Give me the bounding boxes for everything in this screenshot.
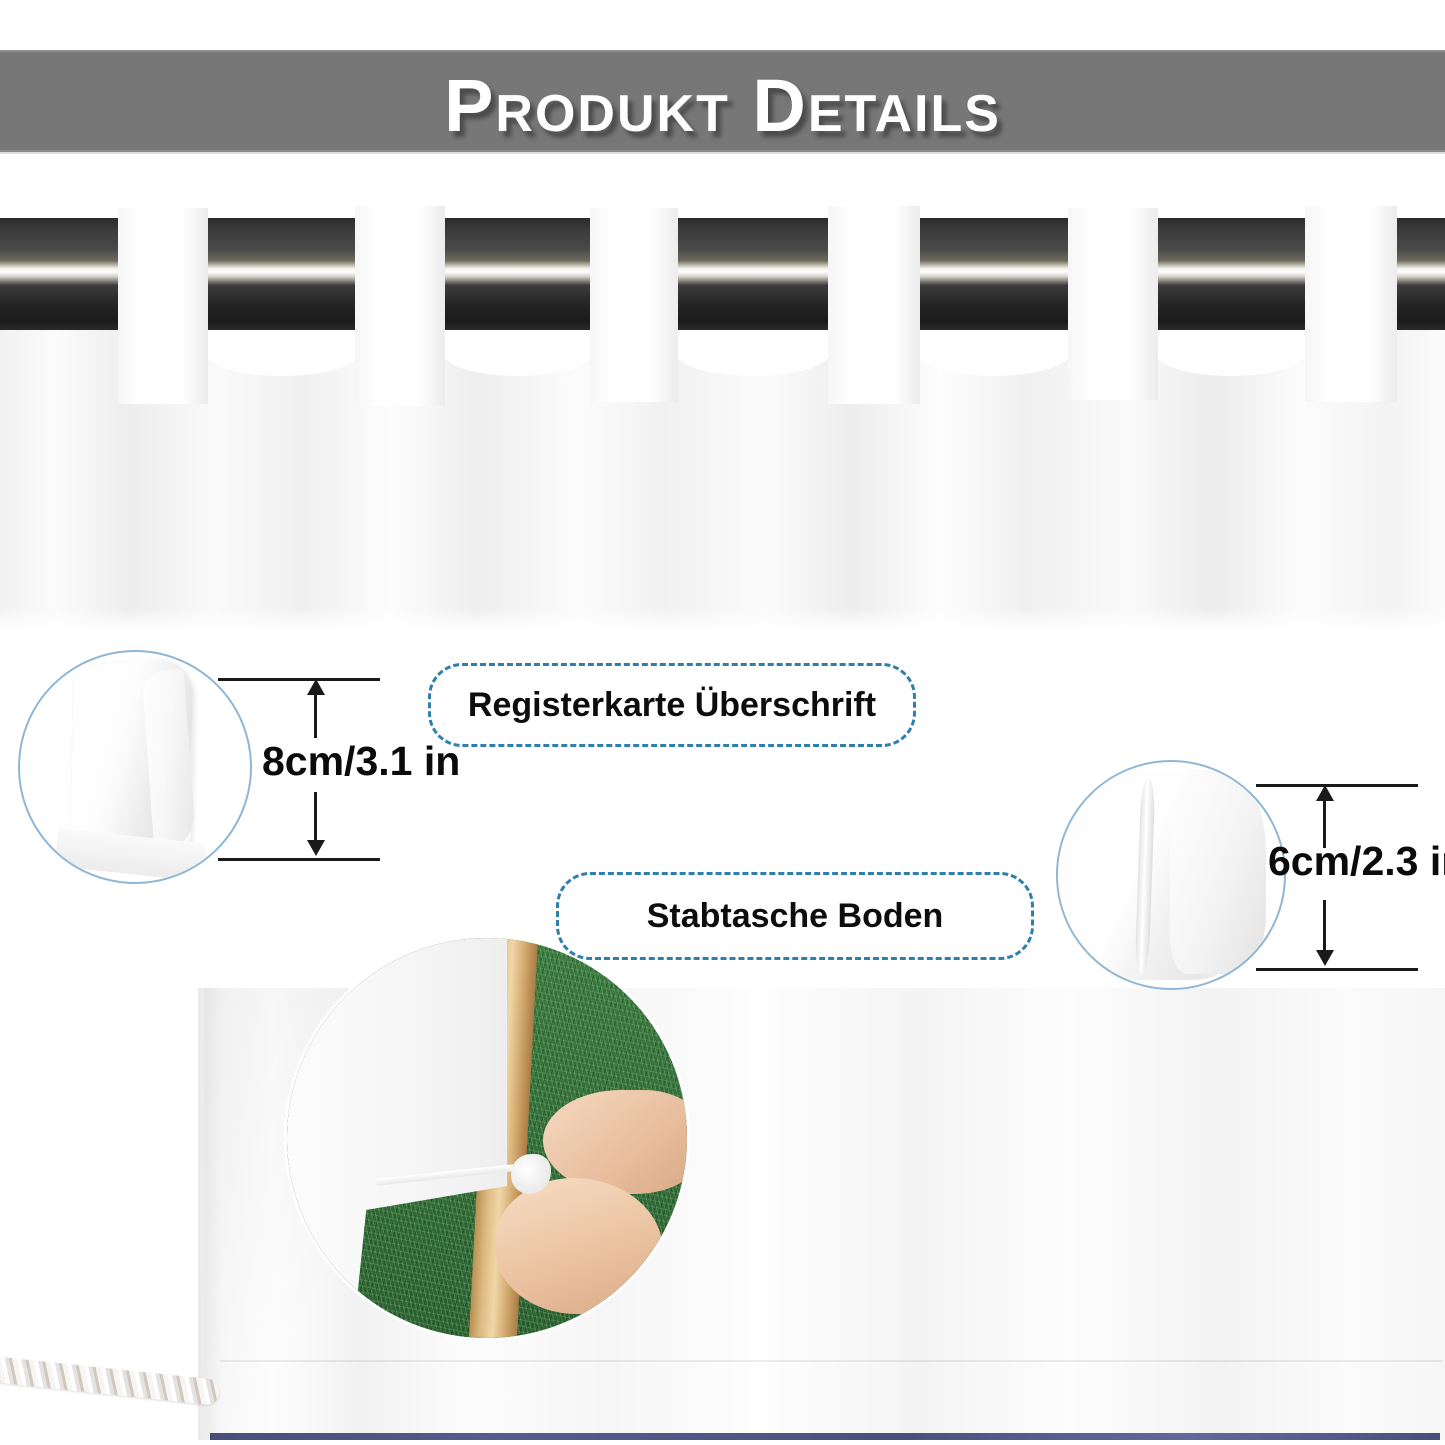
panel-bottom-edge (210, 1433, 1440, 1440)
dimension-arrow-head-up (307, 679, 325, 695)
curtain-scallop (443, 330, 593, 376)
dimension-arrow-shaft-top (314, 692, 317, 738)
curtain-rod (0, 218, 1445, 330)
pocket-closeup-circle (1056, 760, 1286, 990)
curtain-scallop (676, 330, 830, 376)
curtain-scallop (1156, 330, 1306, 376)
dimension-arrow-head-down (1316, 950, 1334, 966)
curtain-tab (1305, 206, 1397, 402)
dimension-arrow-shaft-bottom (314, 792, 317, 840)
curtain-tab (355, 206, 445, 406)
dimension-extension-line-bottom (1256, 968, 1418, 971)
dimension-arrow-head-up (1316, 785, 1334, 801)
callout-rod-pocket-bottom: Stabtasche Boden (556, 872, 1034, 960)
product-details-page: Produkt Details 8cm/3.1 in Registerkarte… (0, 0, 1445, 1445)
callout-tab-heading: Registerkarte Überschrift (428, 663, 916, 747)
tab-closeup-circle (18, 650, 252, 884)
curtain-scallop (918, 330, 1070, 376)
tab-height-label: 8cm/3.1 in (262, 738, 460, 785)
callout-tab-heading-label: Registerkarte Überschrift (468, 686, 876, 725)
panel-hem-line (220, 1360, 1443, 1362)
dimension-extension-line-top (1256, 784, 1418, 787)
dimension-arrow-head-down (307, 840, 325, 856)
dimension-extension-line-bottom (218, 858, 380, 861)
curtain-scallop (206, 330, 358, 376)
tie-cord-photo-circle (287, 938, 687, 1338)
curtain-tab (1068, 208, 1158, 400)
curtain-tab (590, 208, 678, 402)
curtain-tab (118, 208, 208, 404)
callout-rod-pocket-bottom-label: Stabtasche Boden (647, 897, 944, 936)
tie-rope (0, 1356, 221, 1406)
dimension-extension-line-top (218, 678, 380, 681)
page-title: Produkt Details (0, 50, 1445, 152)
pocket-fabric-shading (1170, 772, 1266, 974)
curtain-tab (828, 206, 920, 404)
pocket-height-label: 6cm/2.3 in (1268, 838, 1445, 885)
dimension-arrow-shaft-bottom (1323, 900, 1326, 950)
